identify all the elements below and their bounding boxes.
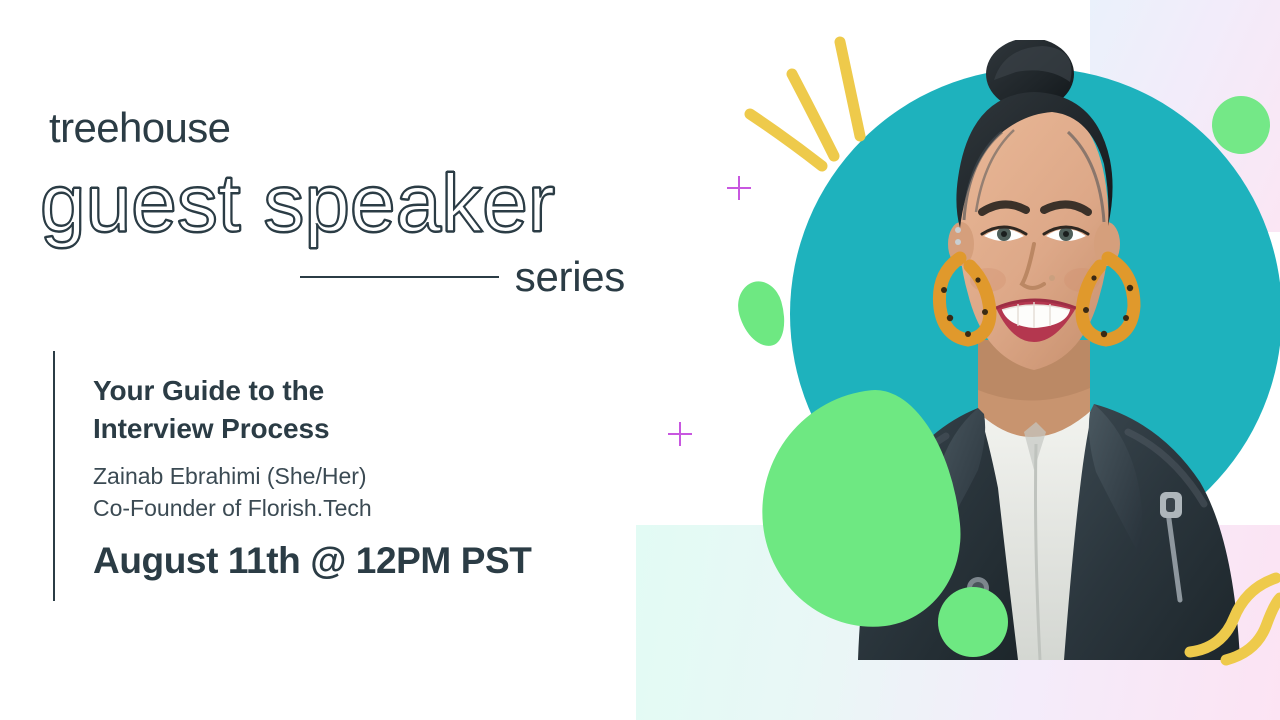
earring-right bbox=[1082, 258, 1134, 340]
yellow-wave-strokes-icon bbox=[1164, 570, 1280, 680]
headline-column: treehouse guest speaker series Your Guid… bbox=[0, 0, 660, 720]
speaker-role: Co-Founder of Florish.Tech bbox=[93, 493, 531, 525]
series-label: series bbox=[515, 256, 625, 298]
magenta-plus-icon bbox=[668, 422, 692, 446]
guest-speaker-promo-slide: treehouse guest speaker series Your Guid… bbox=[0, 0, 1280, 720]
outline-headline-text: guest speaker bbox=[40, 158, 555, 249]
outline-headline: guest speaker bbox=[40, 162, 555, 246]
session-details: Your Guide to the Interview Process Zain… bbox=[53, 351, 531, 601]
session-datetime: August 11th @ 12PM PST bbox=[93, 541, 531, 582]
series-divider-rule bbox=[300, 276, 499, 278]
yellow-sparkle-strokes-icon bbox=[742, 34, 912, 174]
speaker-name: Zainab Ebrahimi (She/Her) bbox=[93, 461, 531, 493]
green-dot-icon bbox=[938, 587, 1008, 657]
magenta-plus-icon bbox=[727, 176, 751, 200]
series-row: series bbox=[300, 256, 625, 298]
green-pill-blob-icon bbox=[732, 276, 792, 352]
brand-name: treehouse bbox=[49, 107, 230, 149]
session-title: Your Guide to the Interview Process bbox=[93, 351, 531, 447]
